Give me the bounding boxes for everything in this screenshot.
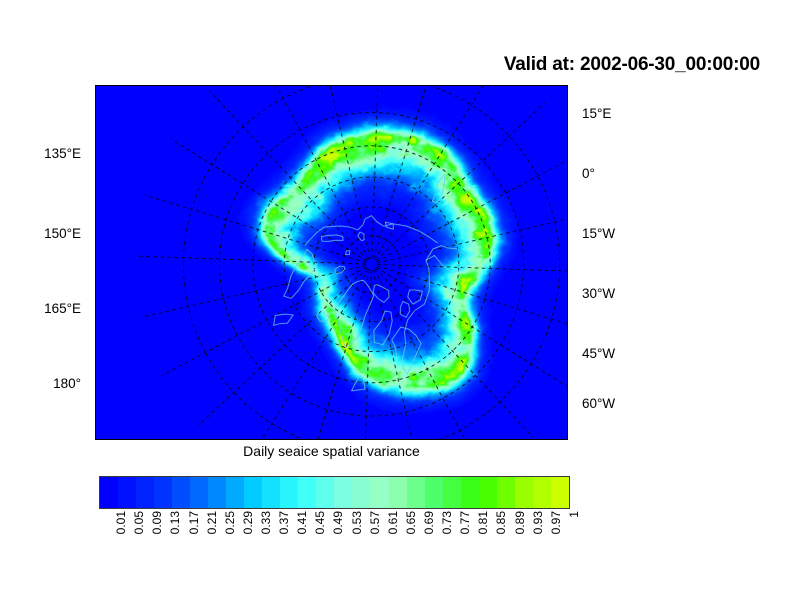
colorbar-tick-label-7: 0.29 [241, 511, 255, 534]
colorbar-cell [316, 477, 334, 508]
colorbar-cell [226, 477, 244, 508]
colorbar-cell [370, 477, 388, 508]
colorbar-cell [515, 477, 533, 508]
colorbar-tick-label-8: 0.33 [259, 511, 273, 534]
colorbar-cell [136, 477, 154, 508]
axis-label-left-1: 150°E [0, 226, 81, 241]
axis-label-right-2: 15°W [582, 226, 615, 241]
colorbar-tick-label-16: 0.65 [404, 511, 418, 534]
colorbar-tick-label-17: 0.69 [422, 511, 436, 534]
colorbar-cell [334, 477, 352, 508]
colorbar-tick-label-18: 0.73 [440, 511, 454, 534]
colorbar-cell [262, 477, 280, 508]
colorbar-cell [118, 477, 136, 508]
axis-label-right-1: 0° [582, 166, 595, 181]
axis-label-left-0: 135°E [0, 146, 81, 161]
colorbar-tick-label-12: 0.49 [331, 511, 345, 534]
colorbar-cell [208, 477, 226, 508]
colorbar-tick-label-3: 0.13 [168, 511, 182, 534]
colorbar-tick-label-2: 0.09 [150, 511, 164, 534]
axis-label-left-2: 165°E [0, 301, 81, 316]
colorbar-cell [443, 477, 461, 508]
axis-label-right-0: 15°E [582, 106, 611, 121]
colorbar-tick-label-5: 0.21 [205, 511, 219, 534]
colorbar-tick-label-24: 0.97 [549, 511, 563, 534]
colorbar-tick-label-22: 0.89 [513, 511, 527, 534]
colorbar-cell [172, 477, 190, 508]
colorbar-tick-label-20: 0.81 [476, 511, 490, 534]
colorbar-cell [352, 477, 370, 508]
colorbar-tick-label-9: 0.37 [277, 511, 291, 534]
colorbar-tick-label-23: 0.93 [531, 511, 545, 534]
colorbar-cell [425, 477, 443, 508]
colorbar-tick-labels: 0.010.050.090.130.170.210.250.290.330.37… [99, 511, 570, 571]
colorbar[interactable] [99, 476, 570, 509]
axis-label-right-4: 45°W [582, 346, 615, 361]
colorbar-cell [280, 477, 298, 508]
figure-root: Valid at: 2002-06-30_00:00:00 135°E150°E… [0, 0, 792, 612]
colorbar-tick-label-1: 0.05 [132, 511, 146, 534]
colorbar-tick-label-19: 0.77 [458, 511, 472, 534]
colorbar-tick-label-21: 0.85 [494, 511, 508, 534]
colorbar-cell [244, 477, 262, 508]
axis-label-right-3: 30°W [582, 286, 615, 301]
colorbar-cell [154, 477, 172, 508]
chart-caption: Daily seaice spatial variance [95, 443, 568, 459]
colorbar-cell [461, 477, 479, 508]
map-panel[interactable] [95, 85, 568, 440]
colorbar-cell [389, 477, 407, 508]
colorbar-tick-label-0: 0.01 [114, 511, 128, 534]
axis-label-left-3: 180° [0, 376, 81, 391]
colorbar-tick-label-10: 0.41 [295, 511, 309, 534]
colorbar-gradient [99, 476, 570, 509]
sea-ice-variance-map [96, 86, 567, 439]
colorbar-tick-label-4: 0.17 [187, 511, 201, 534]
colorbar-cell [407, 477, 425, 508]
colorbar-cell [479, 477, 497, 508]
colorbar-cell [190, 477, 208, 508]
colorbar-tick-label-15: 0.61 [386, 511, 400, 534]
axis-label-right-5: 60°W [582, 396, 615, 411]
colorbar-cell [100, 477, 118, 508]
colorbar-cell [497, 477, 515, 508]
colorbar-cell [533, 477, 551, 508]
page-title: Valid at: 2002-06-30_00:00:00 [360, 54, 760, 76]
colorbar-tick-label-25: 1 [567, 511, 581, 518]
colorbar-tick-label-14: 0.57 [368, 511, 382, 534]
colorbar-tick-label-6: 0.25 [223, 511, 237, 534]
colorbar-tick-label-13: 0.53 [350, 511, 364, 534]
colorbar-cell [551, 477, 569, 508]
colorbar-cell [298, 477, 316, 508]
colorbar-tick-label-11: 0.45 [313, 511, 327, 534]
